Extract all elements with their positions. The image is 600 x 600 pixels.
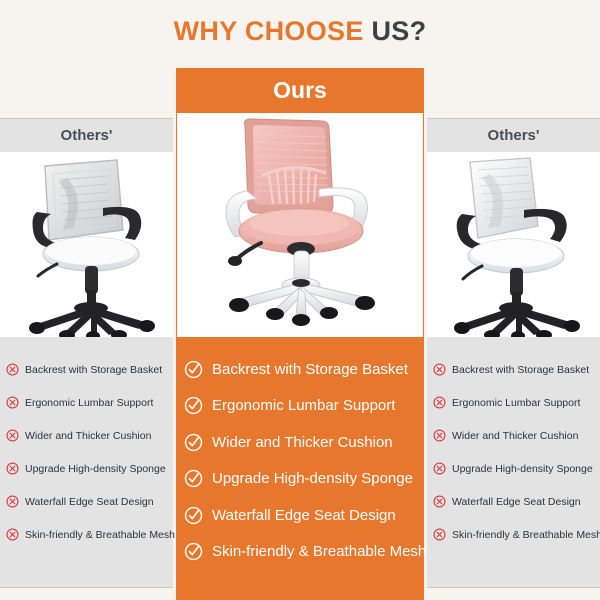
- feature-label: Skin-friendly & Breathable Mesh: [25, 529, 175, 541]
- feature-row: Wider and Thicker Cushion: [433, 419, 594, 452]
- cross-circle-icon: [433, 363, 446, 376]
- column-header-center-label: Ours: [273, 77, 327, 104]
- product-image-left: [0, 152, 173, 337]
- feature-row: Waterfall Edge Seat Design: [433, 485, 594, 518]
- feature-label: Skin-friendly & Breathable Mesh: [212, 543, 426, 560]
- feature-row: Ergonomic Lumbar Support: [433, 386, 594, 419]
- cross-circle-icon: [6, 396, 19, 409]
- feature-row: Waterfall Edge Seat Design: [6, 485, 167, 518]
- cross-circle-icon: [433, 429, 446, 442]
- feature-label: Wider and Thicker Cushion: [452, 430, 578, 442]
- feature-label: Upgrade High-density Sponge: [25, 463, 166, 475]
- feature-label: Upgrade High-density Sponge: [452, 463, 593, 475]
- feature-list-center: Backrest with Storage Basket Ergonomic L…: [176, 337, 424, 600]
- product-image-center: [176, 113, 424, 337]
- check-circle-icon: [184, 396, 203, 415]
- cross-circle-icon: [6, 429, 19, 442]
- feature-label: Skin-friendly & Breathable Mesh: [452, 529, 600, 541]
- feature-list-left: Backrest with Storage Basket Ergonomic L…: [0, 337, 173, 588]
- office-chair-illustration-gray: [7, 152, 167, 337]
- office-chair-illustration-pink: [195, 113, 405, 337]
- page-title: WHY CHOOSE US?: [174, 16, 427, 47]
- feature-row: Wider and Thicker Cushion: [184, 424, 424, 461]
- column-header-right: Others': [427, 118, 600, 152]
- feature-row: Skin-friendly & Breathable Mesh: [433, 518, 594, 551]
- cross-circle-icon: [433, 396, 446, 409]
- feature-row: Upgrade High-density Sponge: [184, 461, 424, 498]
- feature-row: Backrest with Storage Basket: [6, 353, 167, 386]
- feature-label: Backrest with Storage Basket: [452, 364, 589, 376]
- feature-row: Backrest with Storage Basket: [433, 353, 594, 386]
- page-title-highlight: WHY CHOOSE: [174, 16, 364, 46]
- feature-row: Wider and Thicker Cushion: [6, 419, 167, 452]
- comparison-column-center: Ours: [176, 68, 424, 600]
- feature-label: Waterfall Edge Seat Design: [212, 507, 396, 524]
- feature-label: Ergonomic Lumbar Support: [25, 397, 153, 409]
- feature-row: Upgrade High-density Sponge: [6, 452, 167, 485]
- page-title-bar: WHY CHOOSE US?: [0, 0, 600, 62]
- comparison-column-left: Others': [0, 118, 173, 588]
- feature-label: Wider and Thicker Cushion: [25, 430, 151, 442]
- cross-circle-icon: [6, 495, 19, 508]
- feature-label: Wider and Thicker Cushion: [212, 434, 393, 451]
- feature-row: Skin-friendly & Breathable Mesh: [6, 518, 167, 551]
- column-header-center: Ours: [176, 68, 424, 113]
- page-title-rest: US?: [364, 16, 427, 46]
- column-header-left-label: Others': [61, 127, 113, 144]
- feature-list-right: Backrest with Storage Basket Ergonomic L…: [427, 337, 600, 588]
- check-circle-icon: [184, 360, 203, 379]
- check-circle-icon: [184, 469, 203, 488]
- feature-label: Backrest with Storage Basket: [25, 364, 162, 376]
- cross-circle-icon: [433, 495, 446, 508]
- check-circle-icon: [184, 433, 203, 452]
- feature-row: Ergonomic Lumbar Support: [184, 388, 424, 425]
- feature-label: Ergonomic Lumbar Support: [212, 397, 395, 414]
- cross-circle-icon: [6, 462, 19, 475]
- cross-circle-icon: [6, 363, 19, 376]
- feature-row: Ergonomic Lumbar Support: [6, 386, 167, 419]
- feature-row: Skin-friendly & Breathable Mesh: [184, 534, 424, 571]
- feature-row: Waterfall Edge Seat Design: [184, 497, 424, 534]
- feature-label: Waterfall Edge Seat Design: [452, 496, 581, 508]
- check-circle-icon: [184, 506, 203, 525]
- office-chair-illustration-white: [434, 152, 594, 337]
- cross-circle-icon: [433, 462, 446, 475]
- feature-label: Ergonomic Lumbar Support: [452, 397, 580, 409]
- cross-circle-icon: [6, 528, 19, 541]
- feature-label: Upgrade High-density Sponge: [212, 470, 413, 487]
- product-image-right: [427, 152, 600, 337]
- cross-circle-icon: [433, 528, 446, 541]
- feature-label: Backrest with Storage Basket: [212, 361, 408, 378]
- column-header-left: Others': [0, 118, 173, 152]
- comparison-column-right: Others': [427, 118, 600, 588]
- check-circle-icon: [184, 542, 203, 561]
- feature-label: Waterfall Edge Seat Design: [25, 496, 154, 508]
- feature-row: Backrest with Storage Basket: [184, 351, 424, 388]
- feature-row: Upgrade High-density Sponge: [433, 452, 594, 485]
- column-header-right-label: Others': [488, 127, 540, 144]
